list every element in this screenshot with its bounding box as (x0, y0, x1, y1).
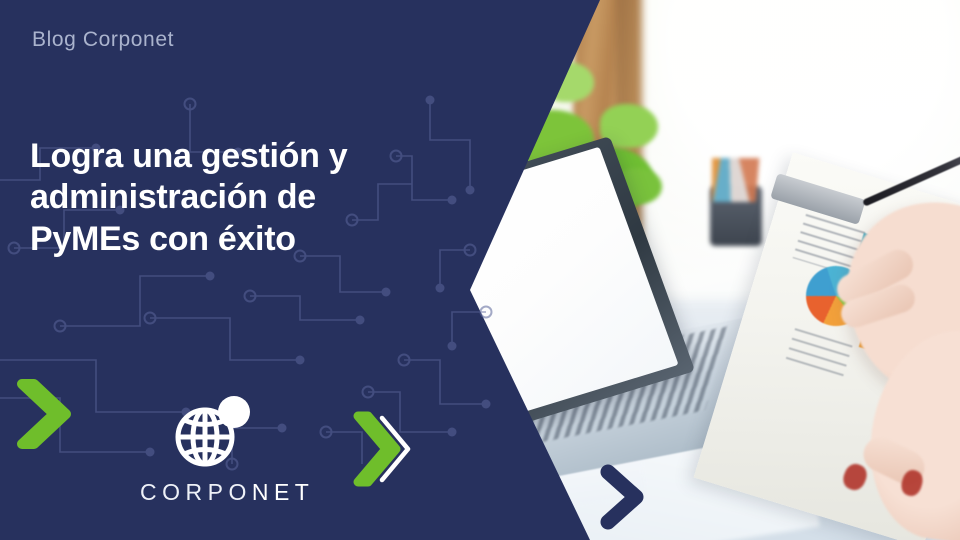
headline-line-3: PyMEs con éxito (30, 219, 430, 260)
brand-logo: CORPONET (140, 392, 280, 506)
page-title: Logra una gestión y administración de Py… (30, 136, 430, 260)
wordmark-net: NET (252, 479, 315, 505)
chevron-right-icon (14, 378, 74, 450)
globe-network-icon (166, 392, 254, 472)
blog-kicker: Blog Corponet (32, 28, 174, 52)
pencils (712, 158, 766, 202)
plant-leaf (544, 62, 594, 102)
brand-wordmark: CORPONET (140, 479, 280, 506)
chevron-right-icon (596, 462, 658, 532)
headline-line-1: Logra una gestión y (30, 136, 430, 177)
wordmark-corpo: CORPO (140, 479, 252, 505)
headline-line-2: administración de (30, 177, 430, 218)
banner-canvas: Blog Corponet Logra una gestión y admini… (0, 0, 960, 540)
chevron-pair-icon (352, 408, 436, 490)
